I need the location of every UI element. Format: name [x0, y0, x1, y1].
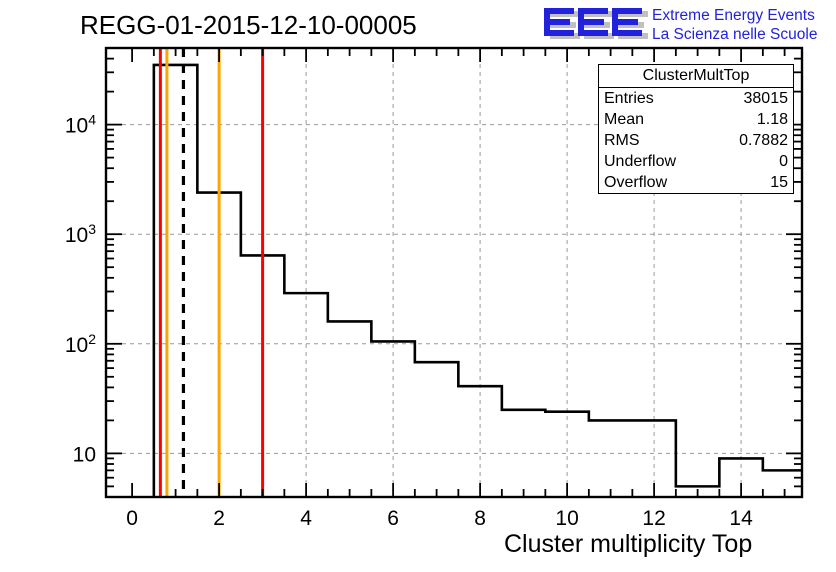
- y-tick-labels: 10102103104: [65, 112, 96, 467]
- stats-box: ClusterMultTop Entries38015Mean1.18RMS0.…: [598, 64, 794, 194]
- x-axis-title: Cluster multiplicity Top: [504, 530, 752, 559]
- x-tick-label: 10: [555, 507, 578, 530]
- stats-key: Underflow: [604, 151, 676, 172]
- x-tick-label: 14: [729, 507, 753, 530]
- stats-key: RMS: [604, 130, 640, 151]
- stats-row: RMS0.7882: [599, 130, 793, 151]
- x-tick-label: 4: [300, 507, 312, 530]
- stats-value: 1.18: [757, 109, 788, 130]
- y-tick-label: 103: [65, 221, 96, 247]
- stats-key: Overflow: [604, 172, 667, 193]
- stats-key: Mean: [604, 109, 644, 130]
- stats-title: ClusterMultTop: [599, 65, 793, 88]
- stats-value: 15: [770, 172, 788, 193]
- x-tick-label: 12: [642, 507, 665, 530]
- stats-value: 0.7882: [739, 130, 788, 151]
- stats-value: 38015: [744, 88, 789, 109]
- x-tick-labels: 02468101214: [126, 507, 753, 530]
- y-tick-label: 10: [73, 443, 96, 466]
- stats-key: Entries: [604, 88, 654, 109]
- x-tick-label: 6: [387, 507, 399, 530]
- x-tick-label: 8: [474, 507, 486, 530]
- marker-lines: [160, 48, 262, 497]
- x-tick-label: 2: [213, 507, 225, 530]
- stats-row: Overflow15: [599, 172, 793, 193]
- stats-row: Underflow0: [599, 151, 793, 172]
- stats-row: Entries38015: [599, 88, 793, 109]
- y-tick-label: 102: [65, 331, 96, 357]
- stats-rows: Entries38015Mean1.18RMS0.7882Underflow0O…: [599, 88, 793, 193]
- stats-row: Mean1.18: [599, 109, 793, 130]
- stats-value: 0: [779, 151, 788, 172]
- x-tick-label: 0: [126, 507, 138, 530]
- y-tick-label: 104: [65, 112, 96, 138]
